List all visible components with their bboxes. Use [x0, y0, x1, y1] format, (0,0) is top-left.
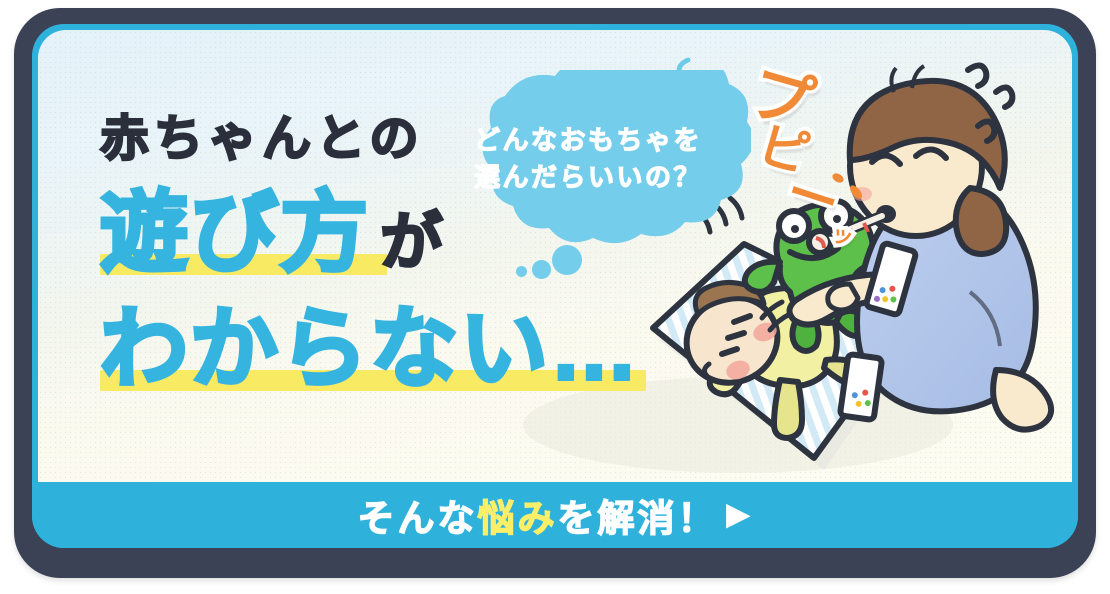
illustration-stage: 赤ちゃんとの 遊び方 が わからない… どんなおもちゃを 選	[38, 30, 1072, 482]
banner-frame: 赤ちゃんとの 遊び方 が わからない… どんなおもちゃを 選	[14, 8, 1096, 578]
thought-bubble-line-1: どんなおもちゃを	[433, 122, 743, 159]
thought-bubble-dot-large	[552, 245, 582, 275]
thought-bubble: どんなおもちゃを 選んだらいいの？	[433, 70, 751, 248]
thought-bubble-text: どんなおもちゃを 選んだらいいの？	[433, 122, 743, 196]
cta-emphasis: 悩み	[477, 488, 557, 542]
cta-prefix: そんな	[357, 488, 477, 542]
cta-suffix: を解消！	[557, 488, 717, 542]
thought-bubble-dot-medium	[532, 260, 551, 279]
cta-bar[interactable]: そんな 悩み を解消！ ▶	[32, 482, 1078, 548]
cta-label: そんな 悩み を解消！ ▶	[357, 488, 752, 542]
thought-bubble-dot-small	[516, 266, 527, 277]
thought-bubble-line-2: 選んだらいいの？	[433, 159, 743, 196]
headline-emphasis-wakaranai: わからない…	[100, 299, 640, 398]
play-arrow-icon[interactable]: ▶	[726, 500, 752, 530]
headline-emphasis-asobikata: 遊び方	[100, 183, 370, 282]
banner-inner-border: 赤ちゃんとの 遊び方 が わからない… どんなおもちゃを 選	[32, 24, 1078, 548]
headline-line-3: わからない…	[100, 305, 640, 393]
